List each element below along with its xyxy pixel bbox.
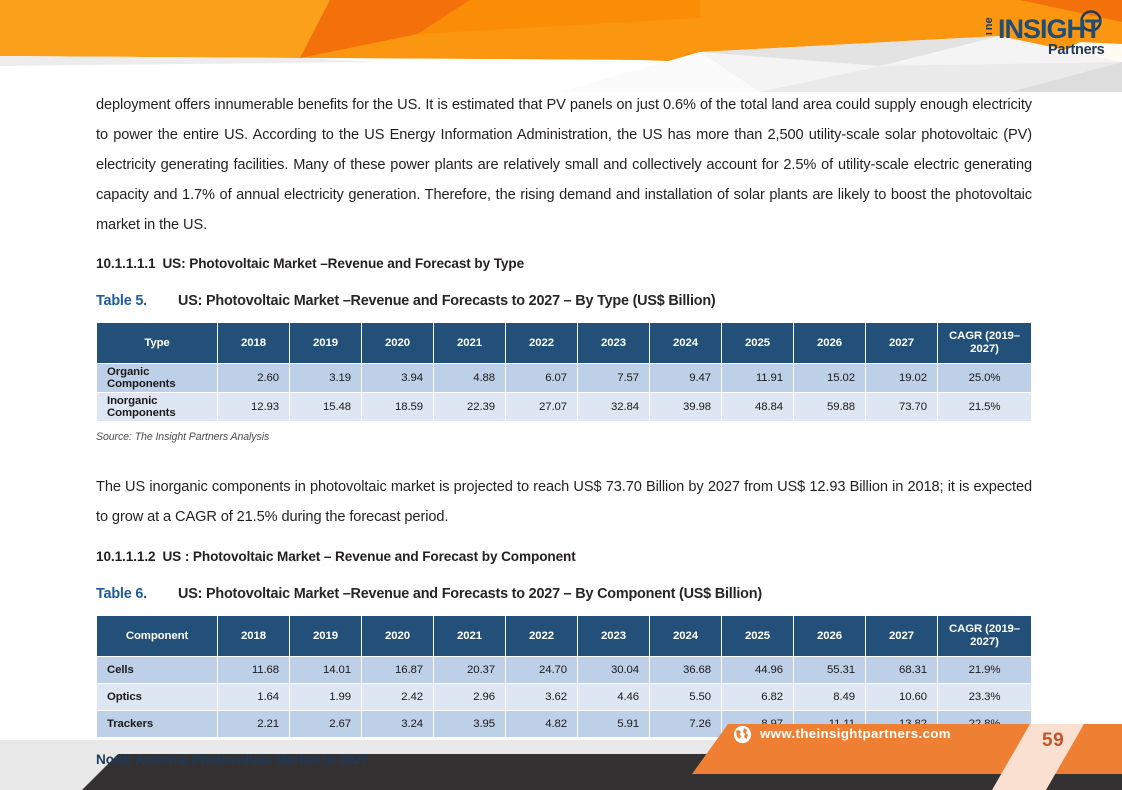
table5-col-2022: 2022 [506,323,577,363]
table-row: Organic Components 2.60 3.19 3.94 4.88 6… [97,364,1031,392]
table5-col-2020: 2020 [362,323,433,363]
table6-col-2025: 2025 [722,616,793,656]
table5-row1-2023: 32.84 [578,393,649,421]
table5-col-2025: 2025 [722,323,793,363]
table5-row0-2019: 3.19 [290,364,361,392]
table5-row1-2026: 59.88 [794,393,865,421]
table5-col-2021: 2021 [434,323,505,363]
table6-row0-2024: 36.68 [650,657,721,683]
table5-row0-2023: 7.57 [578,364,649,392]
table6-col-2026: 2026 [794,616,865,656]
section-title-type: US: Photovoltaic Market –Revenue and For… [162,256,524,271]
table5-row0-2022: 6.07 [506,364,577,392]
table6-caption-title: US: Photovoltaic Market –Revenue and For… [178,586,762,602]
table6-row0-2020: 16.87 [362,657,433,683]
table6-col-2024: 2024 [650,616,721,656]
table5-source-note: Source: The Insight Partners Analysis [96,431,1032,443]
table6-row0-2022: 24.70 [506,657,577,683]
middle-paragraph: The US inorganic components in photovolt… [96,472,1032,532]
section-number-component: 10.1.1.1.2 [96,549,155,564]
table6-col-2019: 2019 [290,616,361,656]
table6-caption: Table 6.US: Photovoltaic Market –Revenue… [96,586,1032,602]
table5-row1-2024: 39.98 [650,393,721,421]
table5-caption-title: US: Photovoltaic Market –Revenue and For… [178,293,716,309]
table5-row0-2018: 2.60 [218,364,289,392]
table6-col-2023: 2023 [578,616,649,656]
table6-row0-label: Cells [97,657,217,683]
page-footer: North America Photovoltaic Market to 202… [0,698,1122,790]
table5-col-2024: 2024 [650,323,721,363]
table6-col-2018: 2018 [218,616,289,656]
document-content: deployment offers innumerable benefits f… [96,90,1032,759]
table5-row0-2021: 4.88 [434,364,505,392]
table5-col-2027: 2027 [866,323,937,363]
table5-row0-2025: 11.91 [722,364,793,392]
logo-partners: Partners [1048,42,1105,58]
page-number: 59 [1042,730,1064,752]
table6-col-2027: 2027 [866,616,937,656]
insight-partners-logo: The INSIGHT Partners [986,8,1108,58]
table5-row1-label: Inorganic Components [97,393,217,421]
table-row: Inorganic Components 12.93 15.48 18.59 2… [97,393,1031,421]
table6-row0-2027: 68.31 [866,657,937,683]
table5-row0-cagr: 25.0% [938,364,1031,392]
table5-row0-label: Organic Components [97,364,217,392]
table6-row0-2019: 14.01 [290,657,361,683]
table5: Type 2018 2019 2020 2021 2022 2023 2024 … [96,322,1032,422]
table5-caption-label: Table 5. [96,293,178,309]
intro-paragraph: deployment offers innumerable benefits f… [96,90,1032,240]
page-header-banner: The INSIGHT Partners [0,0,1122,92]
table5-col-type: Type [97,323,217,363]
table6-col-cagr: CAGR (2019–2027) [938,616,1031,656]
document-page: The INSIGHT Partners deployment offers i… [0,0,1122,790]
table6-caption-label: Table 6. [96,586,178,602]
table5-row1-2019: 15.48 [290,393,361,421]
section-title-component: US : Photovoltaic Market – Revenue and F… [162,549,575,564]
table5-row1-2021: 22.39 [434,393,505,421]
table5-row0-2027: 19.02 [866,364,937,392]
table6-header-row: Component 2018 2019 2020 2021 2022 2023 … [97,616,1031,656]
table5-col-2018: 2018 [218,323,289,363]
footer-website-link[interactable]: www.theinsightpartners.com [760,726,951,741]
table5-row1-2022: 27.07 [506,393,577,421]
logo-the: The [986,17,995,37]
table5-col-2023: 2023 [578,323,649,363]
table5-row0-2026: 15.02 [794,364,865,392]
table6-row0-2021: 20.37 [434,657,505,683]
table5-row1-2025: 48.84 [722,393,793,421]
table5-col-2019: 2019 [290,323,361,363]
section-heading-type: 10.1.1.1.1US: Photovoltaic Market –Reven… [96,256,1032,271]
table6-row0-cagr: 21.9% [938,657,1031,683]
table5-header-row: Type 2018 2019 2020 2021 2022 2023 2024 … [97,323,1031,363]
table6-col-2021: 2021 [434,616,505,656]
table-row: Cells 11.68 14.01 16.87 20.37 24.70 30.0… [97,657,1031,683]
globe-icon [733,725,752,744]
section-heading-component: 10.1.1.1.2US : Photovoltaic Market – Rev… [96,549,1032,564]
table5-row0-2024: 9.47 [650,364,721,392]
table5-row1-2020: 18.59 [362,393,433,421]
table6-row0-2018: 11.68 [218,657,289,683]
logo-insight: INSIGHT [998,14,1102,44]
table5-row0-2020: 3.94 [362,364,433,392]
table6-row0-2026: 55.31 [794,657,865,683]
table6-col-component: Component [97,616,217,656]
table5-col-2026: 2026 [794,323,865,363]
table5-col-cagr: CAGR (2019–2027) [938,323,1031,363]
table6-row0-2023: 30.04 [578,657,649,683]
table5-row1-cagr: 21.5% [938,393,1031,421]
footer-report-title: North America Photovoltaic Market to 202… [96,752,369,767]
table5-row1-2018: 12.93 [218,393,289,421]
section-number-type: 10.1.1.1.1 [96,256,155,271]
table6-col-2020: 2020 [362,616,433,656]
table5-row1-2027: 73.70 [866,393,937,421]
table5-caption: Table 5.US: Photovoltaic Market –Revenue… [96,293,1032,309]
table6-row0-2025: 44.96 [722,657,793,683]
table6-col-2022: 2022 [506,616,577,656]
